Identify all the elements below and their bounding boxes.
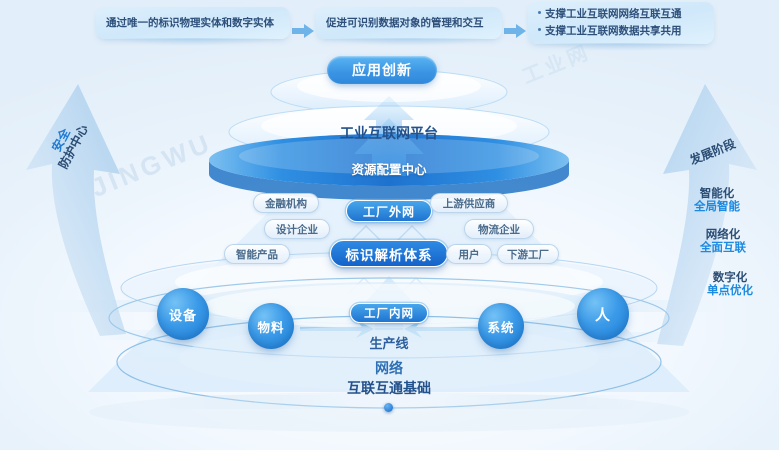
stage-item-intelligent: 智能化 全局智能 [684, 188, 750, 214]
label-network-sub: 互联互通基础 [319, 378, 459, 398]
tag-downstream-factory[interactable]: 下游工厂 [497, 244, 559, 264]
banner-2-line-1: 促进可识别数据对象的管理和交互 [326, 16, 492, 31]
stage-2-detail: 全面互联 [690, 242, 756, 255]
label-network-sub-text: 互联互通基础 [347, 380, 431, 396]
label-network: 网络 [349, 358, 429, 378]
label-resource-center: 资源配置中心 [314, 159, 464, 178]
tag-logistics-enterprise[interactable]: 物流企业 [464, 219, 534, 239]
tag-financial-institution-label: 金融机构 [265, 196, 307, 211]
tag-user[interactable]: 用户 [446, 244, 492, 264]
node-equipment[interactable]: 设备 [157, 288, 209, 340]
banner-3-line-2: 支撑工业互联网数据共享共用 [545, 24, 682, 39]
bullet-icon [538, 11, 541, 14]
node-people-label: 人 [595, 304, 611, 325]
banner-3-item-1: 支撑工业互联网网络互联互通 [538, 7, 704, 22]
pill-factory-extranet[interactable]: 工厂外网 [346, 200, 432, 222]
base-ring-dot-icon [384, 403, 393, 412]
tag-design-enterprise-label: 设计企业 [276, 222, 318, 237]
bg-band-6 [440, 395, 640, 409]
node-people[interactable]: 人 [577, 288, 629, 340]
banner-3-item-2: 支撑工业互联网数据共享共用 [538, 24, 704, 39]
tag-financial-institution[interactable]: 金融机构 [253, 193, 319, 213]
stage-1-detail: 全局智能 [684, 201, 750, 214]
banner-step-3: 支撑工业互联网网络互联互通 支撑工业互联网数据共享共用 [528, 2, 714, 44]
pill-application-innovation-label: 应用创新 [352, 60, 412, 80]
banner-step-2: 促进可识别数据对象的管理和交互 [316, 7, 502, 39]
tag-logistics-enterprise-label: 物流企业 [478, 222, 520, 237]
right-arrow-title: 发展阶段 [678, 133, 748, 172]
tag-smart-product[interactable]: 智能产品 [224, 244, 290, 264]
tag-upstream-supplier-label: 上游供应商 [443, 196, 496, 211]
node-system-label: 系统 [487, 317, 514, 336]
node-equipment-label: 设备 [169, 305, 197, 324]
stage-item-networked: 网络化 全面互联 [690, 229, 756, 255]
banner-arrow-2-icon [502, 7, 528, 55]
node-material[interactable]: 物料 [248, 303, 294, 349]
banner-arrow-1-icon [290, 7, 316, 55]
stage-3-name: 数字化 [697, 272, 763, 285]
pill-factory-intranet-label: 工厂内网 [364, 305, 414, 321]
banner-1-line-1: 通过唯一的标识物理实体和数字实体 [106, 16, 280, 31]
tag-upstream-supplier[interactable]: 上游供应商 [430, 193, 508, 213]
stage-item-digital: 数字化 单点优化 [697, 272, 763, 298]
left-arrow-label: 安全 防护中心 [37, 102, 99, 186]
pill-identity-system[interactable]: 标识解析体系 [330, 240, 448, 267]
stage-1-name: 智能化 [684, 188, 750, 201]
tag-smart-product-label: 智能产品 [236, 247, 278, 262]
pill-identity-system-label: 标识解析体系 [346, 244, 433, 264]
stage-2-name: 网络化 [690, 229, 756, 242]
label-production-line-text: 生产线 [369, 336, 408, 351]
pill-application-innovation[interactable]: 应用创新 [327, 56, 437, 84]
banner-3-line-1: 支撑工业互联网网络互联互通 [545, 7, 682, 22]
right-arrow-title-text: 发展阶段 [688, 137, 738, 168]
tag-downstream-factory-label: 下游工厂 [507, 247, 549, 262]
top-banner-row: 通过唯一的标识物理实体和数字实体 促进可识别数据对象的管理和交互 支撑工业互联网… [0, 2, 779, 50]
stage-3-detail: 单点优化 [697, 285, 763, 298]
tag-user-label: 用户 [459, 247, 480, 262]
label-industrial-platform: 工业互联网平台 [299, 123, 479, 143]
label-resource-center-text: 资源配置中心 [351, 163, 426, 177]
banner-step-1: 通过唯一的标识物理实体和数字实体 [96, 7, 290, 39]
tag-design-enterprise[interactable]: 设计企业 [264, 219, 330, 239]
pill-factory-intranet[interactable]: 工厂内网 [350, 303, 428, 323]
label-network-text: 网络 [375, 360, 403, 376]
label-industrial-platform-text: 工业互联网平台 [340, 125, 438, 141]
watermark-left: JINGWU [87, 127, 217, 204]
node-system[interactable]: 系统 [478, 303, 524, 349]
bullet-icon [538, 28, 541, 31]
pill-factory-extranet-label: 工厂外网 [363, 203, 415, 220]
label-production-line: 生产线 [339, 333, 439, 352]
node-material-label: 物料 [257, 317, 284, 336]
